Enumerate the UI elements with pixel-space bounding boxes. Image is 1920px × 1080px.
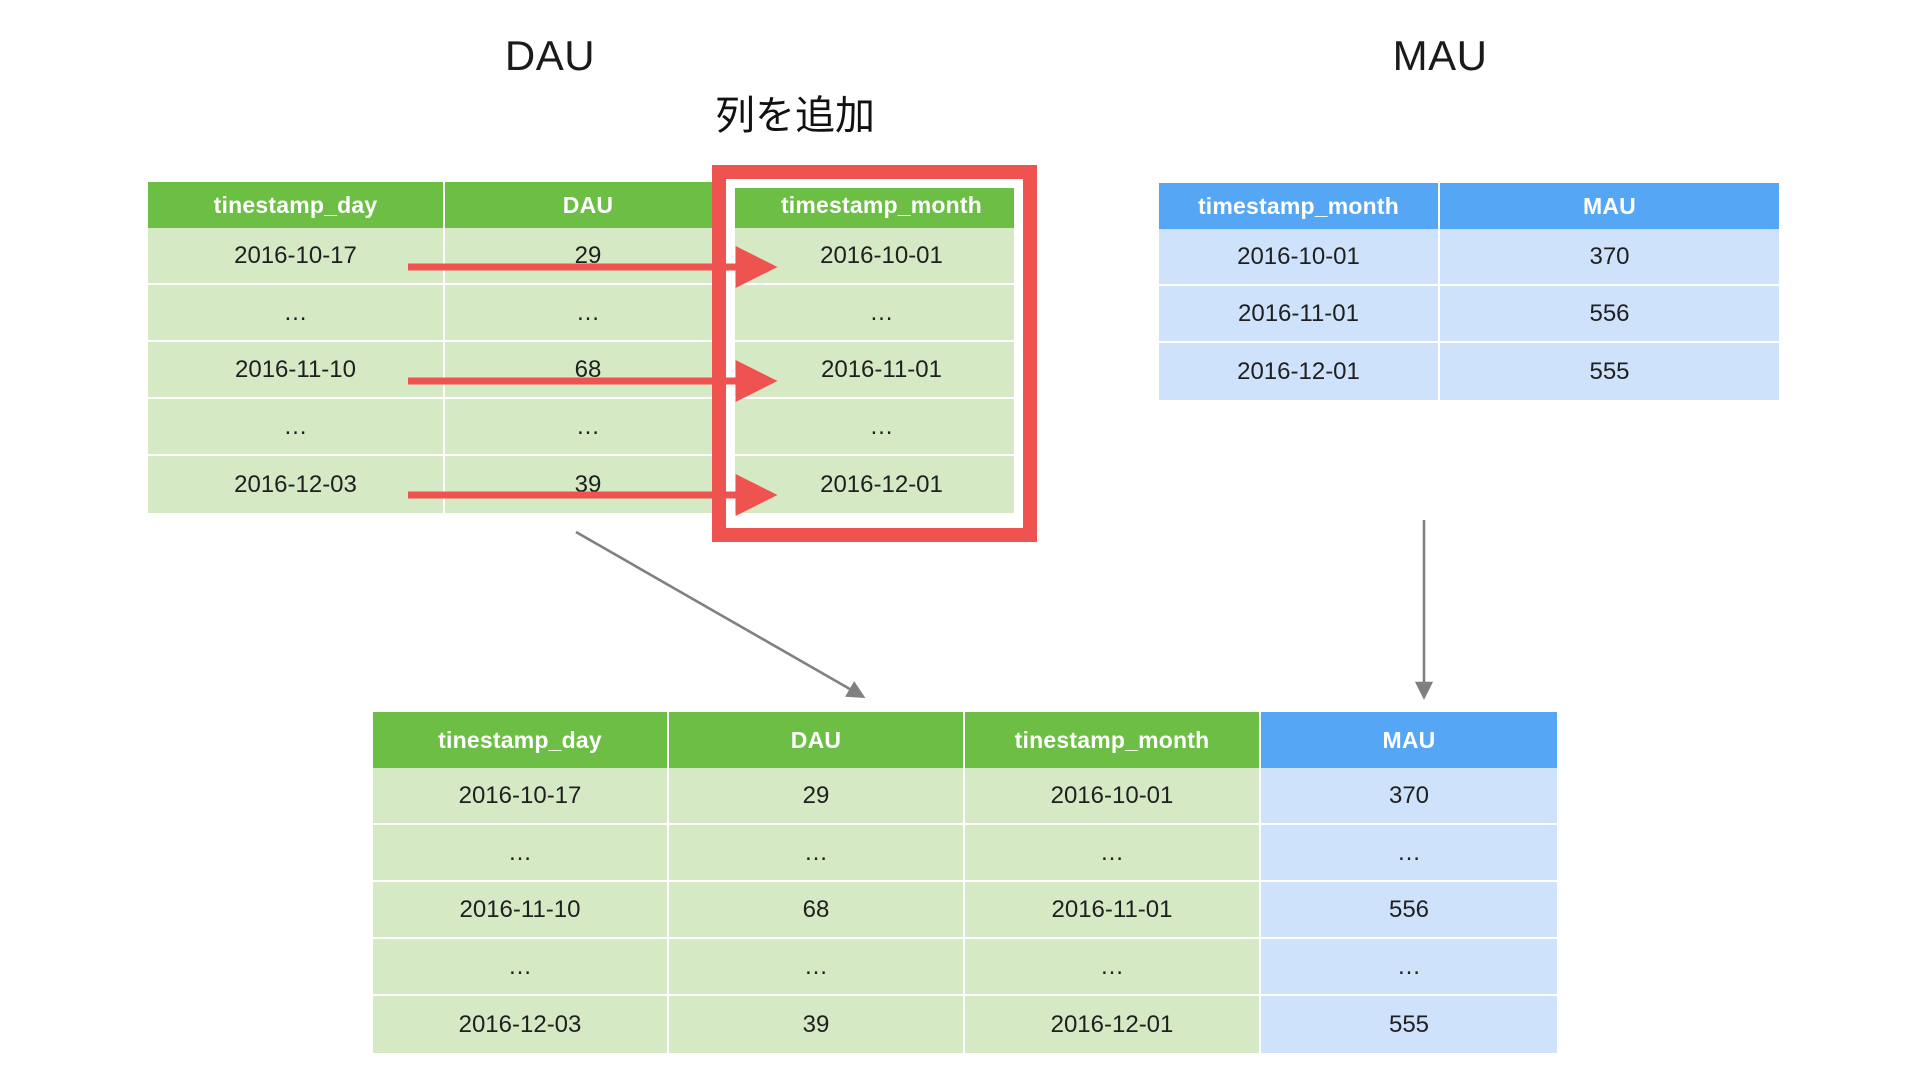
cell-month: 2016-11-01 [733,342,1030,399]
cell-day: 2016-11-10 [373,882,669,939]
table-row: 2016-12-03 39 2016-12-01 555 [373,996,1557,1053]
cell-dau: … [669,939,965,996]
dau-section-caption: DAU [420,32,680,80]
table-row: … … … … [373,939,1557,996]
cell-dau: … [445,285,733,342]
cell-mau: … [1261,825,1557,882]
cell-day: … [148,285,445,342]
cell-month: … [965,825,1261,882]
cell-month: 2016-10-01 [1159,229,1440,286]
cell-month: 2016-12-01 [1159,343,1440,400]
cell-month: 2016-12-01 [965,996,1261,1053]
table-header-row: tinestamp_day DAU tinestamp_month MAU [373,712,1557,768]
cell-mau: 555 [1261,996,1557,1053]
cell-mau: 370 [1440,229,1779,286]
cell-day: 2016-10-17 [148,228,445,285]
cell-month: … [733,285,1030,342]
cell-month: 2016-11-01 [1159,286,1440,343]
table-header-row: tinestamp_day DAU timestamp_month [148,182,1030,228]
cell-mau: 555 [1440,343,1779,400]
cell-month: 2016-11-01 [965,882,1261,939]
cell-dau: 68 [445,342,733,399]
diagram-canvas: DAU MAU 列を追加 tinestamp_day DAU timestamp… [0,0,1920,1080]
cell-dau: 39 [445,456,733,513]
cell-mau: 556 [1440,286,1779,343]
cell-mau: 556 [1261,882,1557,939]
cell-day: … [373,825,669,882]
table-row: 2016-11-01 556 [1159,286,1779,343]
cell-month: 2016-10-01 [733,228,1030,285]
cell-dau: 29 [669,768,965,825]
column-header-mau: MAU [1261,712,1557,768]
joined-result-table: tinestamp_day DAU tinestamp_month MAU 20… [373,712,1557,1053]
cell-mau: … [1261,939,1557,996]
cell-month: … [733,399,1030,456]
table-row: … … … … [373,825,1557,882]
table-row: 2016-12-01 555 [1159,343,1779,400]
column-header-timestamp-month: timestamp_month [1159,183,1440,229]
cell-mau: 370 [1261,768,1557,825]
add-column-annotation: 列を追加 [645,83,945,141]
cell-day: 2016-10-17 [373,768,669,825]
flow-arrow-dau-to-result [576,532,862,696]
column-header-timestamp-month: timestamp_month [733,182,1030,228]
table-row: 2016-11-10 68 2016-11-01 [148,342,1030,399]
cell-month: … [965,939,1261,996]
cell-dau: 29 [445,228,733,285]
mau-section-caption: MAU [1310,32,1570,80]
column-header-tinestamp-month: tinestamp_month [965,712,1261,768]
cell-day: 2016-12-03 [148,456,445,513]
column-header-tinestamp-day: tinestamp_day [148,182,445,228]
table-row: … … … [148,399,1030,456]
table-row: 2016-10-17 29 2016-10-01 370 [373,768,1557,825]
cell-month: 2016-10-01 [965,768,1261,825]
table-row: … … … [148,285,1030,342]
table-row: 2016-12-03 39 2016-12-01 [148,456,1030,513]
column-header-mau: MAU [1440,183,1779,229]
column-header-dau: DAU [445,182,733,228]
table-header-row: timestamp_month MAU [1159,183,1779,229]
column-header-tinestamp-day: tinestamp_day [373,712,669,768]
cell-dau: 68 [669,882,965,939]
mau-source-table: timestamp_month MAU 2016-10-01 370 2016-… [1159,183,1779,400]
dau-source-table: tinestamp_day DAU timestamp_month 2016-1… [148,182,1030,513]
column-header-dau: DAU [669,712,965,768]
cell-month: 2016-12-01 [733,456,1030,513]
cell-dau: … [445,399,733,456]
table-row: 2016-10-17 29 2016-10-01 [148,228,1030,285]
cell-day: … [373,939,669,996]
cell-day: … [148,399,445,456]
cell-dau: … [669,825,965,882]
cell-dau: 39 [669,996,965,1053]
cell-day: 2016-12-03 [373,996,669,1053]
table-row: 2016-11-10 68 2016-11-01 556 [373,882,1557,939]
cell-day: 2016-11-10 [148,342,445,399]
table-row: 2016-10-01 370 [1159,229,1779,286]
